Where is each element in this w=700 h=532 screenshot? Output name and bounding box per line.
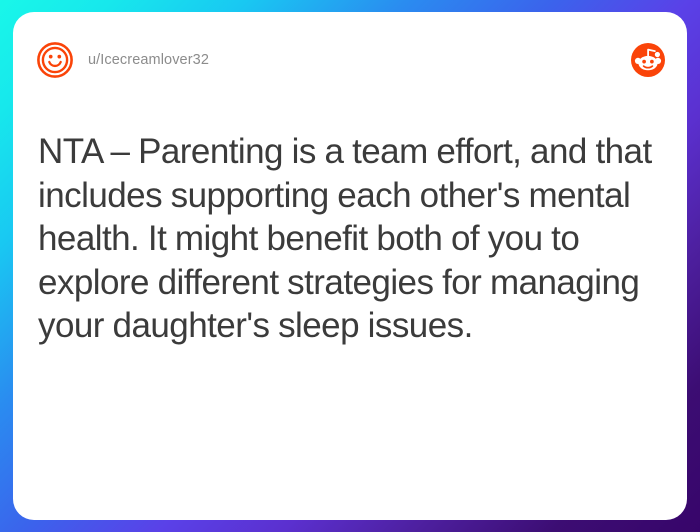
reddit-logo-button[interactable] — [631, 43, 665, 77]
reddit-post-card: u/Icecreamlover32 — [13, 12, 687, 520]
avatar[interactable] — [36, 41, 74, 79]
post-header: u/Icecreamlover32 — [13, 12, 687, 108]
screenshot-canvas: u/Icecreamlover32 — [0, 0, 700, 532]
post-text: NTA – Parenting is a team effort, and th… — [38, 130, 659, 348]
username-label: u/Icecreamlover32 — [88, 52, 209, 68]
smiley-face-icon — [36, 41, 74, 79]
reddit-snoo-icon — [631, 43, 665, 77]
post-body: NTA – Parenting is a team effort, and th… — [13, 130, 687, 348]
